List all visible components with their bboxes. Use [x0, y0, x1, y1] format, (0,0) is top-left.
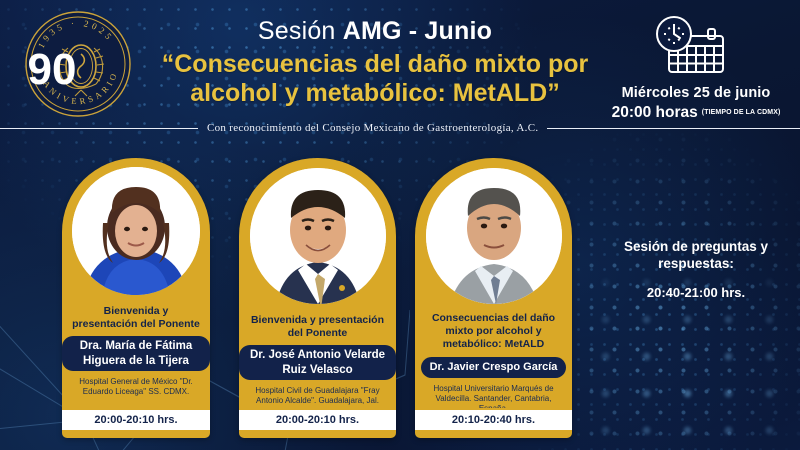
speaker-name: Dra. María de Fátima Higuera de la Tijer… [62, 336, 210, 371]
portrait-dr-jose-antonio-velarde [250, 168, 386, 304]
event-timezone: (TIEMPO DE LA CDMX) [702, 109, 781, 117]
session-prefix: Sesión [258, 17, 343, 45]
speaker-card[interactable]: Bienvenida y presentación del Ponente Dr… [239, 158, 396, 438]
qa-block: Sesión de preguntas y respuestas: 20:40-… [600, 238, 792, 301]
avatar [72, 167, 200, 295]
header-text-block: Sesión AMG - Junio “Consecuencias del da… [150, 16, 600, 108]
session-name: AMG - Junio [343, 17, 492, 45]
speaker-time: 20:10-20:40 hrs. [415, 408, 572, 432]
avatar [426, 168, 562, 304]
speaker-role: Consecuencias del daño mixto por alcohol… [415, 312, 572, 351]
title-line-2: alcohol y metabólico: MetALD” [150, 79, 600, 108]
date-block: Miércoles 25 de junio 20:00 horas(TIEMPO… [600, 14, 792, 122]
speaker-time: 20:00-20:10 hrs. [62, 408, 210, 432]
logo-number: 90 [28, 45, 77, 94]
title-line-1: “Consecuencias del daño mixto por [150, 50, 600, 79]
speaker-card[interactable]: Consecuencias del daño mixto por alcohol… [415, 158, 572, 438]
avatar [250, 168, 386, 304]
anniversary-logo: 1935 · 2025 ANIVERSARIO 90 [22, 8, 134, 120]
portrait-dr-javier-crespo-garcia [426, 168, 562, 304]
divider-left [0, 128, 198, 129]
session-heading: Sesión AMG - Junio [150, 16, 600, 46]
speaker-role: Bienvenida y presentación del Ponente [62, 305, 210, 330]
speaker-time: 20:00-20:10 hrs. [239, 408, 396, 432]
speaker-role: Bienvenida y presentación del Ponente [239, 314, 396, 339]
calendar-clock-icon [648, 14, 744, 76]
page-title: “Consecuencias del daño mixto por alcoho… [150, 50, 600, 108]
event-date: Miércoles 25 de junio [600, 84, 792, 103]
promo-poster: 1935 · 2025 ANIVERSARIO 90 Sesión AMG - … [0, 0, 800, 450]
speaker-name: Dr. Javier Crespo García [421, 357, 567, 378]
endorsement-text: Con reconocimiento del Consejo Mexicano … [198, 122, 547, 134]
speaker-affiliation: Hospital General de México "Dr. Eduardo … [62, 377, 210, 397]
speaker-card[interactable]: Bienvenida y presentación del Ponente Dr… [62, 158, 210, 438]
endorsement-row: Con reconocimiento del Consejo Mexicano … [0, 122, 800, 134]
qa-time: 20:40-21:00 hrs. [600, 284, 792, 301]
speaker-affiliation: Hospital Civil de Guadalajara "Fray Anto… [239, 386, 396, 406]
event-time: 20:00 horas [612, 103, 698, 122]
speaker-name: Dr. José Antonio Velarde Ruiz Velasco [239, 345, 396, 380]
speakers-row: Bienvenida y presentación del Ponente Dr… [0, 158, 590, 438]
portrait-dra-maria-de-fatima [72, 167, 200, 295]
qa-title: Sesión de preguntas y respuestas: [600, 238, 792, 272]
divider-right [547, 128, 800, 129]
